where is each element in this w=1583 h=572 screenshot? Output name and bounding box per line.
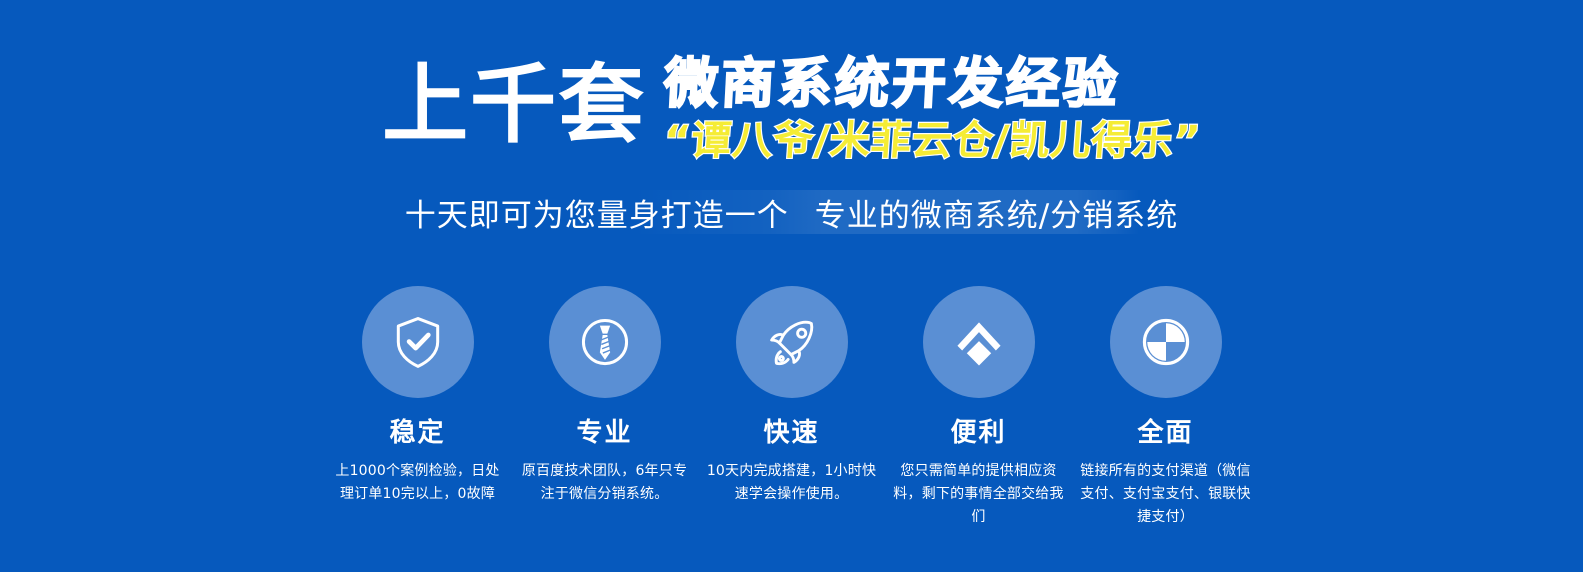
feature-title: 稳定 <box>389 420 445 446</box>
feature-item-fast[interactable]: 快速 10天内完成搭建，1小时快速学会操作使用。 <box>698 286 885 506</box>
chevron-diamond-icon <box>949 312 1009 372</box>
promo-banner: 上千套 微商系统开发经验 “谭八爷/米菲云仓/凯儿得乐” 十天即可为您量身打造一… <box>0 0 1583 572</box>
feature-description: 10天内完成搭建，1小时快速学会操作使用。 <box>704 460 879 506</box>
subtitle-block: 十天即可为您量身打造一个 专业的微商系统/分销系统 <box>0 190 1583 234</box>
subtitle-right-text: 专业的微商系统/分销系统 <box>815 190 1178 235</box>
feature-description: 链接所有的支付渠道（微信支付、支付宝支付、银联快捷支付） <box>1078 460 1253 529</box>
subtitle-left-text: 十天即可为您量身打造一个 <box>405 190 789 235</box>
feature-item-convenient[interactable]: 便利 您只需简单的提供相应资料，剩下的事情全部交给我们 <box>885 286 1072 529</box>
feature-item-professional[interactable]: 专业 原百度技术团队，6年只专注于微信分销系统。 <box>511 286 698 506</box>
headline-secondary-text: 微商系统开发经验 <box>663 56 1122 113</box>
feature-description: 原百度技术团队，6年只专注于微信分销系统。 <box>517 460 692 506</box>
feature-icon-circle <box>549 286 661 398</box>
feature-title: 专业 <box>576 420 632 446</box>
feature-item-stability[interactable]: 稳定 上1000个案例检验，日处理订单10完以上，0故障 <box>324 286 511 506</box>
rocket-icon <box>761 311 823 373</box>
feature-list: 稳定 上1000个案例检验，日处理订单10完以上，0故障 <box>0 286 1583 529</box>
necktie-circle-icon <box>575 312 635 372</box>
headline-right-block: 微商系统开发经验 “谭八爷/米菲云仓/凯儿得乐” <box>664 56 1201 163</box>
feature-title: 快速 <box>763 420 819 446</box>
feature-description: 上1000个案例检验，日处理订单10完以上，0故障 <box>330 460 505 506</box>
feature-title: 全面 <box>1137 420 1193 446</box>
headline-main-text: 上千套 <box>382 62 646 148</box>
pie-quadrant-icon <box>1136 312 1196 372</box>
feature-description: 您只需简单的提供相应资料，剩下的事情全部交给我们 <box>891 460 1066 529</box>
feature-title: 便利 <box>950 420 1006 446</box>
feature-icon-circle <box>362 286 474 398</box>
headline-block: 上千套 微商系统开发经验 “谭八爷/米菲云仓/凯儿得乐” <box>0 56 1583 163</box>
feature-item-comprehensive[interactable]: 全面 链接所有的支付渠道（微信支付、支付宝支付、银联快捷支付） <box>1072 286 1259 529</box>
headline-clients-tagline: “谭八爷/米菲云仓/凯儿得乐” <box>663 119 1203 163</box>
feature-icon-circle <box>736 286 848 398</box>
feature-icon-circle <box>1110 286 1222 398</box>
feature-icon-circle <box>923 286 1035 398</box>
shield-check-icon <box>388 312 448 372</box>
